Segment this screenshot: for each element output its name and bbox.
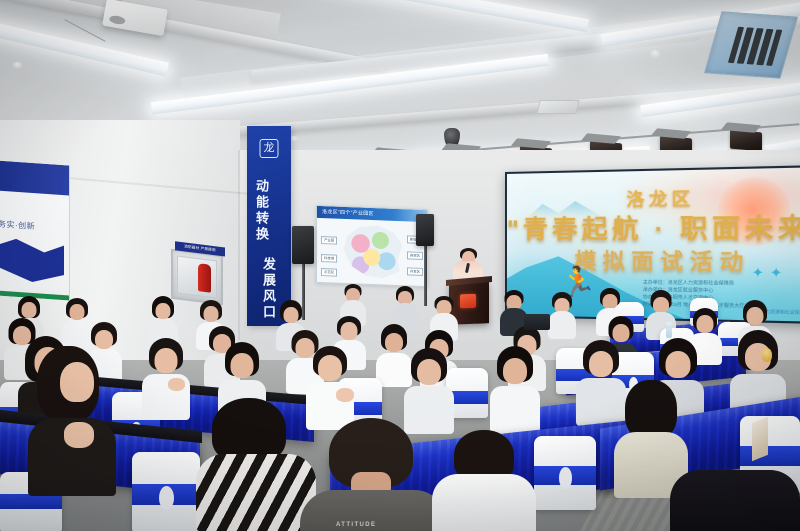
- podium-emblem: [460, 294, 476, 309]
- fire-extinguisher-icon: [198, 263, 211, 293]
- person-head: [284, 307, 299, 323]
- smoke-detector-icon: [12, 62, 23, 69]
- audience-person: [142, 338, 190, 418]
- pa-speaker: [416, 214, 434, 246]
- person-head: [318, 355, 342, 381]
- conference-hall-photo: 务实·创新 龙 动能转换 发展风口 洛龙区"四个"产业园区 产业园 科技城 示范…: [0, 0, 800, 531]
- person-head: [231, 353, 254, 378]
- chair: [132, 452, 200, 531]
- shirt-text: ATTITUDE: [336, 522, 376, 528]
- person-head: [204, 306, 219, 322]
- person-head: [155, 348, 178, 373]
- person-hair: [625, 380, 677, 440]
- person-head: [417, 359, 441, 385]
- clapping-hands: [64, 422, 94, 448]
- map-poster-header: 洛龙区"四个"产业园区: [317, 206, 427, 222]
- map-tag: 示范区: [321, 268, 337, 277]
- person-head: [697, 315, 714, 333]
- person-head: [589, 351, 613, 377]
- screen-title-line-2: "青春起航 · 职面未来": [507, 207, 800, 247]
- stage-spotlight: [730, 130, 762, 152]
- fluorescent-light-strip: [301, 0, 589, 32]
- projector-cable: [64, 19, 105, 41]
- person-torso: [490, 386, 540, 434]
- person-hair: [212, 398, 286, 462]
- map-tag: 产业园: [321, 236, 337, 245]
- person-torso: [432, 474, 536, 531]
- wall-corner: [238, 150, 240, 340]
- vent-slats-icon: [728, 27, 783, 66]
- person-torso: [670, 470, 800, 531]
- map-tag: 科技城: [321, 254, 337, 263]
- audience-person-foreground: [432, 430, 536, 531]
- laptop-screen: [524, 314, 550, 330]
- speaker-stand: [424, 236, 427, 306]
- audience-person-striped-shirt: [196, 398, 316, 531]
- person-head: [22, 302, 37, 318]
- audience-person-foreground: ATTITUDE: [300, 418, 448, 531]
- chair-sash-knot: [559, 467, 573, 489]
- banner-left-swoosh-icon: [0, 237, 64, 285]
- document-stack: [752, 417, 768, 461]
- person-head: [666, 351, 691, 378]
- person-head: [603, 294, 618, 309]
- air-conditioner-vent: [704, 11, 798, 78]
- fire-extinguisher-cabinet: 消防器材 严禁挪用: [171, 249, 223, 305]
- chair-sash: [740, 446, 800, 466]
- audience-person: [548, 292, 576, 336]
- person-head: [341, 322, 358, 340]
- water-bottle: [666, 322, 672, 338]
- banner-logo-icon: 龙: [260, 139, 279, 158]
- map-poster: 洛龙区"四个"产业园区 产业园 科技城 示范区 新城区 自贸区 开发区: [316, 205, 428, 287]
- projector-lens-icon: [109, 15, 126, 26]
- clapping-hands: [168, 378, 185, 391]
- wall-banner-left: 务实·创新: [0, 160, 70, 300]
- person-head: [156, 303, 171, 319]
- smoke-detector-icon: [648, 50, 662, 59]
- clapping-hands: [336, 388, 354, 402]
- audience-person-foreground: [28, 346, 116, 496]
- banner-left-text: 务实·创新: [0, 219, 68, 235]
- flower-vase: [762, 348, 772, 362]
- person-head: [747, 307, 764, 325]
- person-head: [60, 362, 94, 402]
- audience-person: [148, 296, 178, 344]
- banner-left-header: [0, 160, 69, 195]
- person-torso: [548, 311, 576, 339]
- chair-sash-knot: [159, 486, 174, 510]
- audience-person: [392, 286, 418, 326]
- audience-person-foreground: [670, 470, 800, 531]
- audience-person: [490, 346, 540, 430]
- map-tag: 自贸区: [407, 251, 423, 260]
- map-tag: 开发区: [407, 267, 423, 276]
- person-head: [653, 297, 669, 313]
- ceiling-tile: [536, 100, 579, 114]
- banner-text-column-1: 动能转换: [252, 172, 271, 250]
- vertical-banner: 龙 动能转换 发展风口: [247, 126, 291, 326]
- person-torso-striped: [196, 454, 316, 531]
- district-map-graphic: [341, 223, 405, 281]
- person-head: [503, 358, 527, 384]
- pa-speaker: [292, 226, 314, 264]
- person-head: [70, 304, 85, 320]
- chair: [534, 436, 596, 510]
- person-head: [385, 333, 403, 352]
